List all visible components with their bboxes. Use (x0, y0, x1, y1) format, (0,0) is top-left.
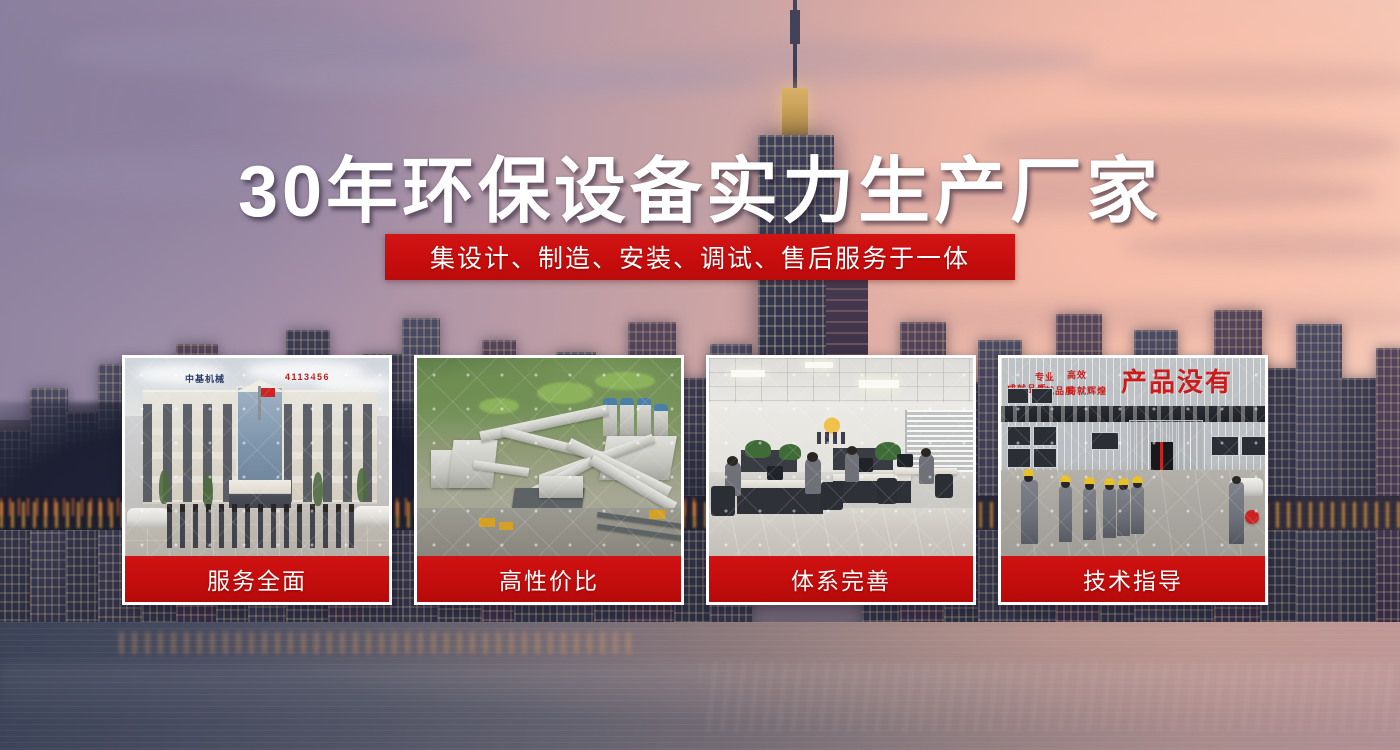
window-blinds (905, 410, 973, 472)
feature-card-training[interactable]: 产品没有 成就品质 专业 成就品质 高效 铸就辉煌 (998, 355, 1268, 605)
hero-banner: 30年环保设备实力生产厂家 集设计、制造、安装、调试、售后服务于一体 中基机械 (0, 0, 1400, 750)
card-caption-label: 服务全面 (207, 562, 307, 596)
subtitle-text: 集设计、制造、安装、调试、售后服务于一体 (430, 239, 970, 275)
factory-slogan-2: 专业 (1035, 372, 1055, 382)
production-plant-aerial-photo (417, 358, 681, 559)
building-sign-text: 中基机械 (185, 372, 225, 385)
red-helmet-icon (1245, 510, 1259, 524)
company-headquarters-photo: 中基机械 4113456 (125, 358, 389, 559)
office-interior-photo (709, 358, 973, 559)
workers-training-photo: 产品没有 成就品质 专业 成就品质 高效 铸就辉煌 (1001, 358, 1265, 559)
factory-slogan-4: 高效 (1067, 370, 1087, 380)
card-caption-label: 高性价比 (499, 562, 599, 596)
feature-card-value[interactable]: 高性价比 (414, 355, 684, 605)
page-title: 30年环保设备实力生产厂家 (0, 132, 1400, 237)
card-caption: 服务全面 (125, 556, 389, 602)
card-caption: 体系完善 (709, 556, 973, 602)
feature-card-system[interactable]: 体系完善 (706, 355, 976, 605)
staff-line (167, 506, 357, 548)
card-caption-label: 体系完善 (791, 562, 891, 596)
card-caption-label: 技术指导 (1083, 562, 1183, 596)
parked-car-icon (353, 506, 389, 526)
building-phone-text: 4113456 (285, 372, 330, 382)
factory-slogan-5: 铸就辉煌 (1067, 386, 1107, 396)
water-light-reflection (120, 632, 640, 654)
feature-card-list: 中基机械 4113456 服务全面 (122, 355, 1278, 605)
parked-car-icon (127, 508, 171, 528)
factory-sign-text: 产品没有 (1121, 362, 1233, 399)
feature-card-service[interactable]: 中基机械 4113456 服务全面 (122, 355, 392, 605)
subtitle-banner: 集设计、制造、安装、调试、售后服务于一体 (385, 234, 1015, 280)
wall-logo-graphic (813, 412, 851, 446)
card-caption: 技术指导 (1001, 556, 1265, 602)
card-caption: 高性价比 (417, 556, 681, 602)
